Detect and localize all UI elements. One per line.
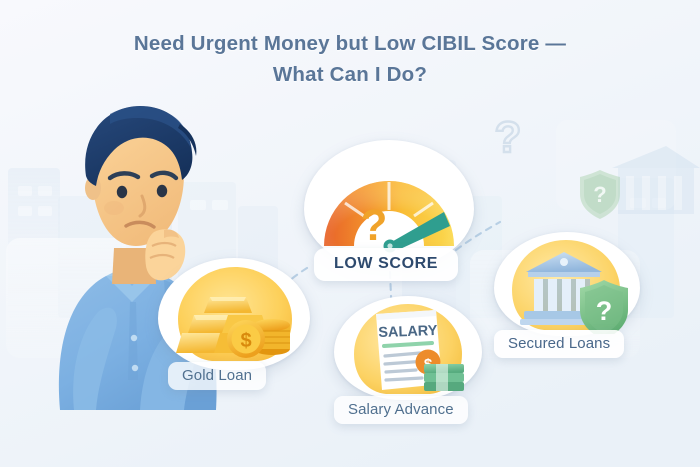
person-head: [85, 106, 196, 246]
dollar-symbol: $: [240, 330, 251, 352]
title-line-1: Need Urgent Money but Low CIBIL Score —: [134, 32, 566, 55]
node-low-score: ? LOW SCORE: [296, 140, 486, 280]
security-shield: ?: [580, 280, 628, 334]
illustration-canvas: ? ?: [0, 0, 700, 467]
svg-text:?: ?: [593, 182, 606, 207]
gold-bars-and-coins-icon: $: [166, 263, 304, 365]
gauge-question-mark-icon: ?: [361, 201, 388, 250]
low-score-label: LOW SCORE: [314, 248, 458, 281]
node-salary-advance: SALARY $ Salary Advance: [328, 296, 500, 426]
dollar-coin: $: [227, 320, 265, 358]
bank-with-shield-icon: ?: [500, 236, 636, 334]
node-gold-loan: $ Gold Loan: [152, 258, 322, 398]
shield-question-mark: ?: [596, 296, 613, 326]
node-secured-loans: ? Secured Loans: [486, 232, 666, 362]
salary-slip-heading: SALARY: [378, 323, 438, 341]
salary-slip-and-cash-icon: SALARY $: [340, 300, 476, 398]
secured-loans-label: Secured Loans: [494, 330, 624, 358]
floating-question-mark-icon: ?: [495, 113, 522, 162]
page-title: Need Urgent Money but Low CIBIL Score — …: [0, 28, 700, 90]
score-gauge-icon: ?: [312, 146, 466, 262]
gold-loan-label: Gold Loan: [168, 362, 266, 390]
cash-stack: [424, 364, 464, 391]
salary-advance-label: Salary Advance: [334, 396, 468, 424]
title-line-2: What Can I Do?: [0, 59, 700, 90]
